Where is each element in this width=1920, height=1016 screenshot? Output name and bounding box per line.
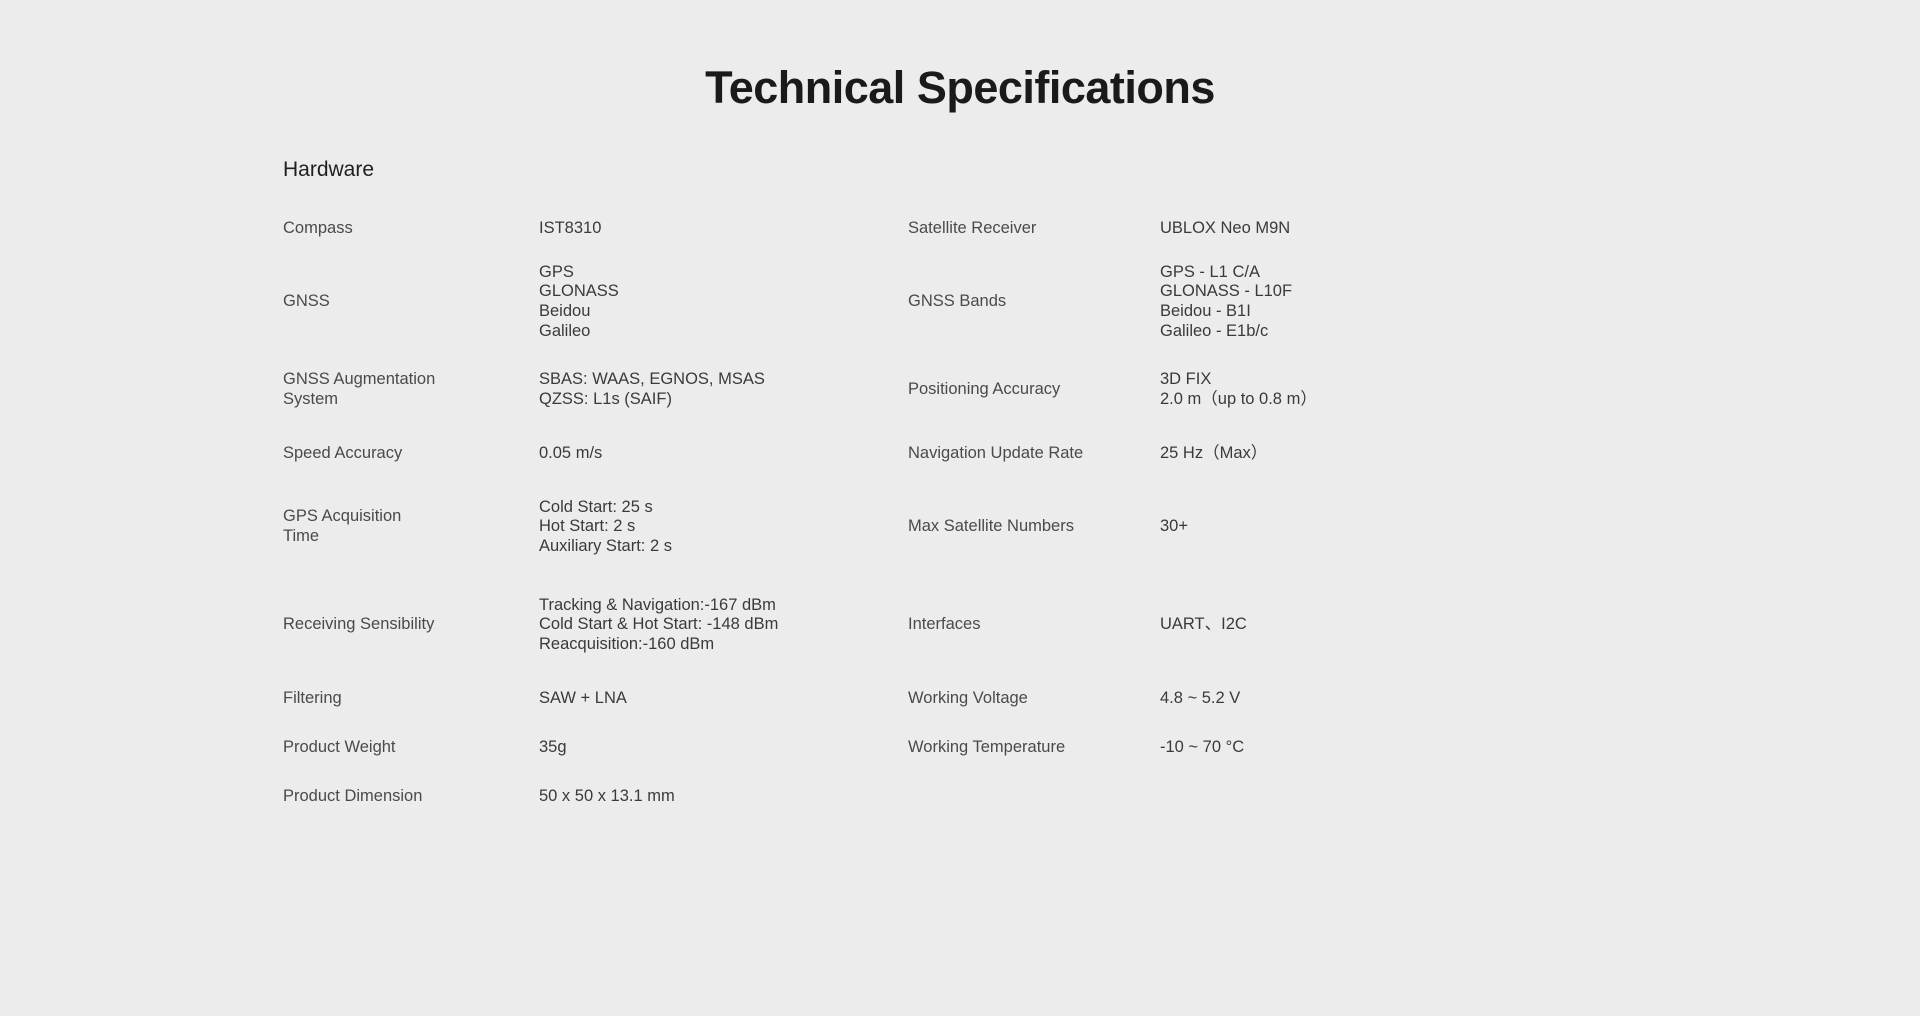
- spec-label: Product Dimension: [283, 787, 539, 807]
- spec-value: SAW + LNA: [539, 689, 908, 709]
- spec-label: Working Voltage: [908, 689, 1160, 709]
- spec-value: 35g: [539, 738, 908, 758]
- spec-row: Positioning Accuracy3D FIX 2.0 m（up to 0…: [908, 351, 1533, 429]
- spec-column-left: CompassIST8310GNSSGPS GLONASS Beidou Gal…: [283, 204, 908, 821]
- spec-label: GNSS Augmentation System: [283, 370, 539, 409]
- spec-label: Working Temperature: [908, 738, 1160, 758]
- spec-value: 25 Hz（Max）: [1160, 444, 1533, 464]
- spec-label: Max Satellite Numbers: [908, 517, 1160, 537]
- spec-row: GNSSGPS GLONASS Beidou Galileo: [283, 253, 908, 351]
- spec-value: GPS - L1 C/A GLONASS - L10F Beidou - B1I…: [1160, 263, 1533, 341]
- spec-label: Receiving Sensibility: [283, 615, 539, 635]
- spec-row: GNSS Augmentation SystemSBAS: WAAS, EGNO…: [283, 351, 908, 429]
- section-title-hardware: Hardware: [283, 157, 1640, 182]
- spec-row: Speed Accuracy0.05 m/s: [283, 429, 908, 478]
- spec-value: 30+: [1160, 517, 1533, 537]
- spec-row: GNSS BandsGPS - L1 C/A GLONASS - L10F Be…: [908, 253, 1533, 351]
- spec-label: Positioning Accuracy: [908, 380, 1160, 400]
- spec-label: GNSS: [283, 292, 539, 312]
- spec-value: 50 x 50 x 13.1 mm: [539, 787, 908, 807]
- spec-column-right: Satellite ReceiverUBLOX Neo M9NGNSS Band…: [908, 204, 1533, 772]
- spec-value: 3D FIX 2.0 m（up to 0.8 m）: [1160, 370, 1533, 409]
- spec-grid: CompassIST8310GNSSGPS GLONASS Beidou Gal…: [283, 204, 1640, 821]
- spec-page: Technical Specifications Hardware Compas…: [0, 0, 1920, 1016]
- spec-label: Product Weight: [283, 738, 539, 758]
- page-title: Technical Specifications: [0, 0, 1920, 114]
- spec-label: GPS Acquisition Time: [283, 507, 539, 546]
- spec-label: Interfaces: [908, 615, 1160, 635]
- spec-label: Satellite Receiver: [908, 219, 1160, 239]
- spec-row: Product Weight35g: [283, 723, 908, 772]
- spec-value: -10 ~ 70 °C: [1160, 738, 1533, 758]
- spec-row: Working Voltage4.8 ~ 5.2 V: [908, 674, 1533, 723]
- spec-value: Cold Start: 25 s Hot Start: 2 s Auxiliar…: [539, 498, 908, 557]
- spec-row: Navigation Update Rate25 Hz（Max）: [908, 429, 1533, 478]
- spec-body: Hardware CompassIST8310GNSSGPS GLONASS B…: [0, 157, 1920, 821]
- spec-row: Max Satellite Numbers30+: [908, 478, 1533, 576]
- spec-value: Tracking & Navigation:-167 dBm Cold Star…: [539, 596, 908, 655]
- spec-row: Receiving SensibilityTracking & Navigati…: [283, 576, 908, 674]
- spec-value: SBAS: WAAS, EGNOS, MSAS QZSS: L1s (SAIF): [539, 370, 908, 409]
- spec-value: GPS GLONASS Beidou Galileo: [539, 263, 908, 341]
- spec-row: CompassIST8310: [283, 204, 908, 253]
- spec-value: 4.8 ~ 5.2 V: [1160, 689, 1533, 709]
- spec-value: UART、I2C: [1160, 615, 1533, 635]
- spec-row: FilteringSAW + LNA: [283, 674, 908, 723]
- spec-value: UBLOX Neo M9N: [1160, 219, 1533, 239]
- spec-row: InterfacesUART、I2C: [908, 576, 1533, 674]
- spec-value: 0.05 m/s: [539, 444, 908, 464]
- spec-label: Filtering: [283, 689, 539, 709]
- spec-row: Satellite ReceiverUBLOX Neo M9N: [908, 204, 1533, 253]
- spec-row: Working Temperature-10 ~ 70 °C: [908, 723, 1533, 772]
- spec-value: IST8310: [539, 219, 908, 239]
- spec-label: Compass: [283, 219, 539, 239]
- spec-row: GPS Acquisition TimeCold Start: 25 s Hot…: [283, 478, 908, 576]
- spec-label: GNSS Bands: [908, 292, 1160, 312]
- spec-row: Product Dimension50 x 50 x 13.1 mm: [283, 772, 908, 821]
- spec-label: Speed Accuracy: [283, 444, 539, 464]
- spec-label: Navigation Update Rate: [908, 444, 1160, 464]
